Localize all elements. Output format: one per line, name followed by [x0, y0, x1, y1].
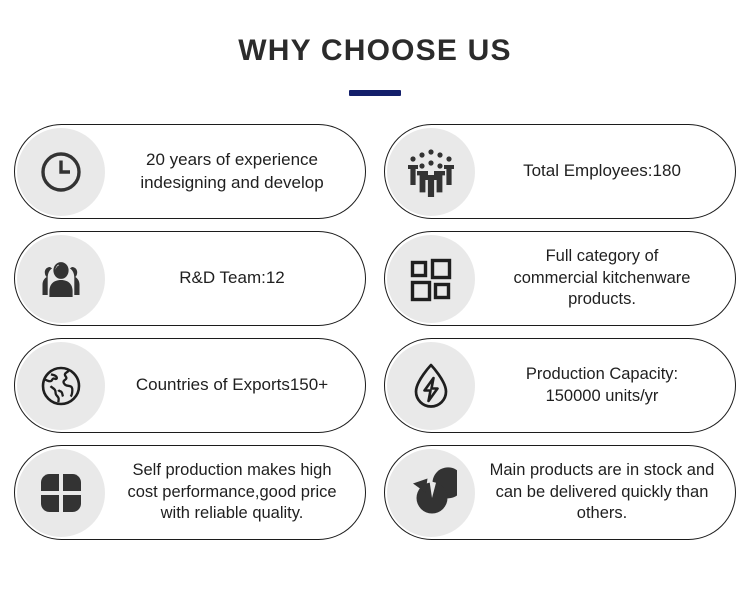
feature-card-rnd-team[interactable]: R&D Team:12 — [14, 231, 366, 326]
title-underline — [349, 90, 401, 96]
feature-card-experience[interactable]: 20 years of experience indesigning and d… — [14, 124, 366, 219]
why-choose-us-page: WHY CHOOSE US 20 years of experience ind… — [0, 0, 750, 597]
feature-card-exports[interactable]: Countries of Exports150+ — [14, 338, 366, 433]
globe-icon — [17, 342, 105, 430]
clover-icon — [17, 449, 105, 537]
feature-card-label: R&D Team:12 — [105, 267, 365, 289]
feature-card-label: Full category of commercial kitchenware … — [475, 246, 735, 310]
feature-card-label: Self production makes high cost performa… — [105, 460, 365, 524]
feature-card-label: Countries of Exports150+ — [105, 374, 365, 396]
clock-icon — [17, 128, 105, 216]
page-header: WHY CHOOSE US — [0, 0, 750, 96]
feature-card-label: Total Employees:180 — [475, 160, 735, 182]
feature-card-label: 20 years of experience indesigning and d… — [105, 149, 365, 193]
droplet-bolt-icon — [387, 342, 475, 430]
feature-card-full-category[interactable]: Full category of commercial kitchenware … — [384, 231, 736, 326]
feature-card-employees[interactable]: Total Employees:180 — [384, 124, 736, 219]
feature-card-grid: 20 years of experience indesigning and d… — [0, 124, 750, 540]
feature-card-label: Main products are in stock and can be de… — [475, 460, 735, 524]
page-title: WHY CHOOSE US — [0, 36, 750, 66]
team-silhouette-icon — [17, 235, 105, 323]
feature-card-stock-delivery[interactable]: Main products are in stock and can be de… — [384, 445, 736, 540]
feature-card-production-capacity[interactable]: Production Capacity: 150000 units/yr — [384, 338, 736, 433]
pie-chart-icon — [387, 449, 475, 537]
feature-card-label: Production Capacity: 150000 units/yr — [475, 364, 735, 407]
grid-squares-icon — [387, 235, 475, 323]
feature-card-self-production[interactable]: Self production makes high cost performa… — [14, 445, 366, 540]
people-group-icon — [387, 128, 475, 216]
